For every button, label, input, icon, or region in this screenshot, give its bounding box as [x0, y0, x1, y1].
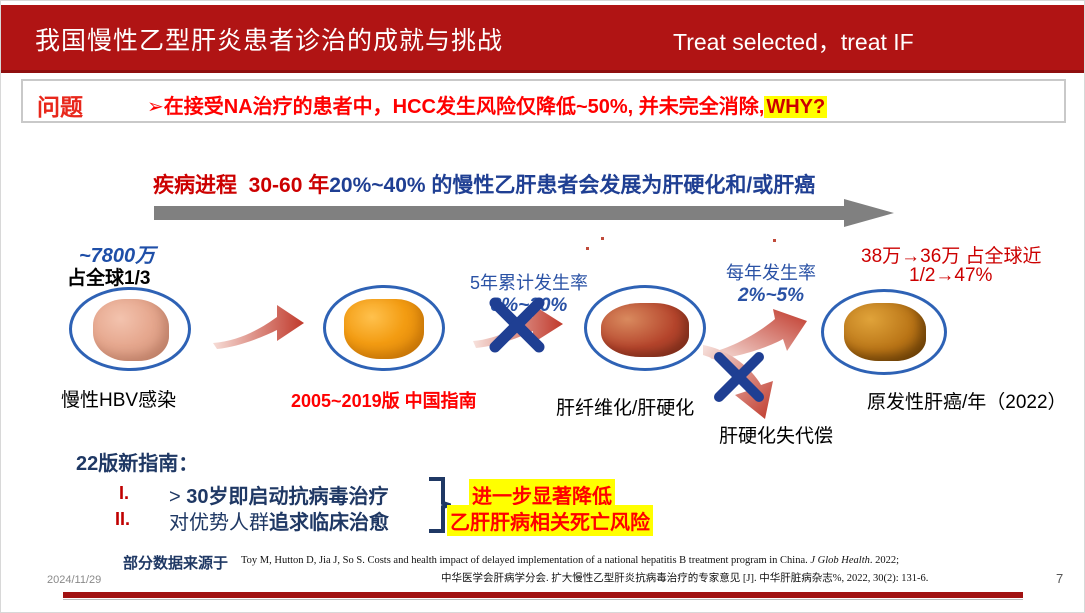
progression-arrow-icon [154, 199, 894, 227]
decor-dot-1 [586, 247, 589, 250]
header-underline [1, 70, 1085, 73]
guideline-item-2-bold: 追求临床治愈 [269, 512, 389, 534]
stage-2-caption: 2005~2019版 中国指南 [291, 387, 477, 413]
footer-bar-thin [63, 599, 1023, 600]
citation-2: 中华医学会肝病学分会. 扩大慢性乙型肝炎抗病毒治疗的专家意见 [J]. 中华肝脏… [441, 570, 928, 585]
guideline-item-2-text: 对优势人群追求临床治愈 [169, 506, 389, 535]
blocked-x-icon-2 [713, 351, 765, 403]
decor-dot-3 [773, 239, 776, 242]
citation-1-journal: J Glob Health [810, 555, 870, 566]
guideline-item-2-plain: 对优势人群 [169, 512, 269, 534]
footer-page-number: 7 [1056, 571, 1063, 586]
page-title: 我国慢性乙型肝炎患者诊治的成就与挑战 [35, 21, 503, 57]
stage-1-liver-image [93, 299, 169, 361]
stage-4-top-stat-line2: 1/2→47% [909, 265, 992, 287]
footer-date: 2024/11/29 [47, 574, 101, 586]
guidelines-highlight-line-2: 乙肝肝病相关死亡风险 [447, 505, 653, 536]
guideline-item-2-number: II. [115, 509, 130, 530]
blocked-x-icon-1 [489, 297, 545, 353]
slide-root: 我国慢性乙型肝炎患者诊治的成就与挑战 Treat selected，treat … [0, 0, 1085, 613]
guideline-item-1-text: > 30岁即启动抗病毒治疗 [169, 480, 389, 509]
header-subtitle: Treat selected，treat IF [673, 23, 914, 57]
transition-arrow-1-icon [211, 301, 306, 351]
slide-header: 我国慢性乙型肝炎患者诊治的成就与挑战 Treat selected，treat … [1, 5, 1085, 73]
guideline-item-1-bold: 30岁即启动抗病毒治疗 [186, 486, 388, 508]
guideline-item-1-plain: > [169, 486, 186, 508]
citation-1-part-a: Toy M, Hutton D, Jia J, So S. Costs and … [241, 555, 810, 566]
transition-2-title: 每年发生率 [726, 263, 816, 283]
guidelines-title: 22版新指南： [76, 447, 198, 476]
transition-2-rate: 2%~5% [701, 285, 841, 307]
question-highlight: WHY? [764, 96, 827, 118]
citation-1: Toy M, Hutton D, Jia J, So S. Costs and … [241, 555, 899, 566]
guideline-item-1-number: I. [119, 483, 129, 504]
decompensation-caption: 肝硬化失代偿 [719, 421, 833, 448]
progression-label: 疾病进程 30-60 年20%~40% 的慢性乙肝患者会发展为肝硬化和/或肝癌 [153, 169, 815, 199]
stage-4-liver-image [844, 303, 926, 361]
citation-lead: 部分数据来源于 [123, 552, 228, 573]
stage-3-liver-image [601, 303, 689, 357]
progression-label-blue: 20%~40% 的慢性乙肝患者会发展为肝硬化和/或肝癌 [329, 174, 815, 197]
question-label: 问题 [37, 88, 83, 122]
question-banner: 问题 ➢在接受NA治疗的患者中，HCC发生风险仅降低~50%, 并未完全消除,W… [21, 79, 1066, 123]
footer-bar [63, 592, 1023, 598]
question-main-text: ➢在接受NA治疗的患者中，HCC发生风险仅降低~50%, 并未完全消除, [147, 96, 764, 118]
progression-label-red3: 年 [308, 174, 329, 197]
stage-2-liver-image [344, 299, 424, 359]
transition-1-title: 5年累计发生率 [470, 273, 588, 293]
transition-annual-rate: 每年发生率 2%~5% [701, 259, 841, 307]
stage-4-top-stat-line1: 38万→36万 占全球近 [861, 241, 1042, 268]
stage-1-caption: 慢性HBV感染 [61, 385, 176, 412]
progression-label-red2: 30-60 [249, 174, 303, 197]
stage-1-top-stat-black: 占全球1/3 [67, 263, 150, 290]
stage-4-caption: 原发性肝癌/年（2022） [867, 387, 1067, 414]
question-text: ➢在接受NA治疗的患者中，HCC发生风险仅降低~50%, 并未完全消除,WHY? [147, 90, 827, 119]
progression-label-red1: 疾病进程 [153, 174, 237, 197]
stage-3-caption: 肝纤维化/肝硬化 [556, 393, 694, 420]
citation-1-part-b: . 2022; [870, 555, 899, 566]
decor-dot-2 [601, 237, 604, 240]
